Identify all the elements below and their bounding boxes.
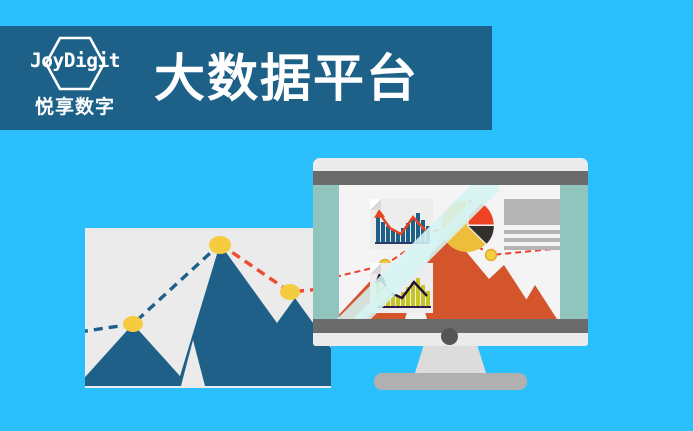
mountain-trend-chart bbox=[85, 228, 331, 388]
brand-logo: JoyDigit 悦享数字 bbox=[14, 34, 136, 122]
mountain-large-center bbox=[177, 244, 331, 386]
axis-line bbox=[375, 306, 431, 308]
pie-slice-b bbox=[469, 199, 494, 224]
monitor-frame bbox=[313, 158, 588, 346]
header-banner: JoyDigit 悦享数字 大数据平台 bbox=[0, 26, 492, 130]
logo-chinese-text: 悦享数字 bbox=[14, 92, 136, 119]
desktop-monitor bbox=[313, 158, 588, 386]
power-button[interactable] bbox=[441, 328, 458, 345]
mountain-small-left bbox=[85, 324, 189, 386]
arrow-head-icon bbox=[375, 273, 386, 283]
poster-canvas: JoyDigit 悦享数字 大数据平台 bbox=[0, 0, 693, 431]
arrow-head-icon bbox=[374, 209, 385, 218]
axis-line bbox=[375, 242, 431, 244]
bezel-top bbox=[313, 171, 588, 185]
text-block-line bbox=[504, 238, 560, 242]
text-block-line bbox=[504, 246, 560, 250]
data-point-marker bbox=[209, 236, 231, 254]
monitor-screen bbox=[313, 185, 588, 319]
bar-chart-olive-card bbox=[370, 263, 433, 313]
logo-latin-text: JoyDigit bbox=[14, 49, 136, 72]
left-illustration-panel bbox=[85, 228, 331, 388]
pie-chart bbox=[439, 198, 495, 254]
data-point-marker bbox=[123, 316, 143, 332]
monitor-stand-neck bbox=[414, 346, 487, 376]
bar-chart-blue-card bbox=[370, 199, 433, 249]
page-fold-icon bbox=[370, 263, 381, 274]
text-block-image bbox=[504, 199, 560, 225]
text-block-widget bbox=[504, 199, 560, 254]
page-fold-icon bbox=[370, 199, 381, 210]
text-block-line bbox=[504, 230, 560, 234]
page-title: 大数据平台 bbox=[154, 53, 419, 104]
data-point-marker bbox=[280, 284, 300, 300]
dashboard-viewport bbox=[339, 185, 560, 319]
monitor-stand-base bbox=[374, 373, 527, 390]
